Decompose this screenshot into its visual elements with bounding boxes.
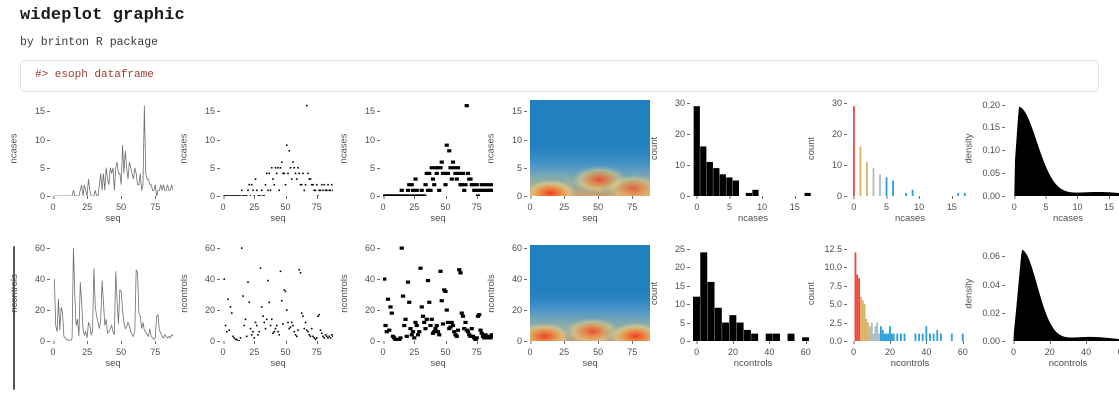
- y-tick-label: 0.04: [982, 280, 1000, 290]
- y-tick-label: 15: [205, 106, 215, 116]
- x-tick-label: 10: [1072, 202, 1082, 212]
- x-axis-label: seq: [53, 358, 173, 372]
- y-tick-label: 0: [40, 336, 45, 346]
- x-axis-label: ncases: [1008, 213, 1119, 227]
- plot-area: [530, 100, 650, 196]
- y-tick-label: 20: [675, 262, 685, 272]
- y-axis-label: ncases: [178, 100, 191, 196]
- y-tick-label: 20: [365, 305, 375, 315]
- x-axis-ticks: 0255075: [530, 196, 650, 212]
- y-tick-label: 15: [675, 281, 685, 291]
- x-axis-label: ncontrols: [850, 358, 970, 372]
- x-tick-label: 0: [851, 202, 856, 212]
- y-axis-label: count: [805, 245, 818, 341]
- y-tick-label: 0: [370, 336, 375, 346]
- x-tick-label: 20: [885, 347, 895, 357]
- x-axis-label: seq: [383, 213, 493, 227]
- y-axis-ticks: 0204060: [21, 245, 51, 341]
- y-axis-label: density: [963, 100, 976, 196]
- x-tick-label: 50: [440, 202, 450, 212]
- x-axis-ticks: 051015: [850, 196, 970, 212]
- y-axis-ticks: 0510152025: [661, 245, 691, 341]
- y-tick-label: 5: [370, 163, 375, 173]
- x-tick-label: 75: [472, 347, 482, 357]
- x-axis-label: seq: [53, 213, 173, 227]
- plot-area: [383, 100, 493, 196]
- x-tick-label: 10: [757, 202, 767, 212]
- y-tick-label: 0: [837, 191, 842, 201]
- y-tick-label: 0.10: [982, 145, 1000, 155]
- y-axis-label: ncases: [485, 100, 498, 196]
- x-tick-label: 25: [82, 347, 92, 357]
- plot-area: [223, 245, 333, 341]
- x-tick-label: 20: [1045, 347, 1055, 357]
- x-tick-label: 25: [249, 347, 259, 357]
- x-tick-label: 0: [527, 347, 532, 357]
- x-tick-label: 25: [559, 202, 569, 212]
- plot-area: [850, 245, 970, 341]
- y-axis-ticks: 0204060: [498, 245, 528, 341]
- x-tick-label: 75: [312, 347, 322, 357]
- y-tick-label: 0.15: [982, 122, 1000, 132]
- x-tick-label: 0: [1011, 347, 1016, 357]
- y-tick-label: 60: [365, 243, 375, 253]
- x-axis-label: seq: [223, 358, 333, 372]
- plot-panel-row2-density: density0.000.020.040.060204060ncontrols: [963, 245, 1119, 380]
- wideplot-page: wideplot graphic by brinton R package #>…: [0, 0, 1119, 404]
- y-axis-ticks: 0102030: [818, 100, 848, 196]
- y-axis-ticks: 051015: [498, 100, 528, 196]
- y-tick-label: 10: [675, 299, 685, 309]
- plot-area: [693, 100, 813, 196]
- x-tick-label: 75: [150, 347, 160, 357]
- x-axis-ticks: 0204060: [693, 341, 813, 357]
- y-tick-label: 0: [680, 191, 685, 201]
- x-tick-label: 25: [82, 202, 92, 212]
- x-axis-label: ncases: [693, 213, 813, 227]
- plot-area: [1008, 100, 1119, 196]
- plot-area: [383, 245, 493, 341]
- x-tick-label: 40: [921, 347, 931, 357]
- y-tick-label: 40: [365, 274, 375, 284]
- plot-panel-row1-density: density0.000.050.100.150.20051015ncases: [963, 100, 1119, 235]
- code-output-text: #> esoph dataframe: [35, 69, 154, 81]
- y-tick-label: 2.5: [829, 318, 842, 328]
- y-tick-label: 20: [675, 129, 685, 139]
- y-axis-ticks: 0.02.55.07.510.012.5: [818, 245, 848, 341]
- y-axis-label: density: [963, 245, 976, 341]
- x-axis-ticks: 0204060: [850, 341, 970, 357]
- x-tick-label: 10: [914, 202, 924, 212]
- y-axis-label: ncases: [338, 100, 351, 196]
- y-axis-ticks: 051015: [191, 100, 221, 196]
- x-tick-label: 40: [764, 347, 774, 357]
- y-tick-label: 0: [40, 191, 45, 201]
- x-tick-label: 50: [593, 202, 603, 212]
- x-axis-ticks: 0255075: [223, 196, 333, 212]
- x-tick-label: 50: [280, 202, 290, 212]
- y-tick-label: 0: [517, 191, 522, 201]
- x-axis-ticks: 0204060: [1008, 341, 1119, 357]
- y-tick-label: 20: [832, 129, 842, 139]
- x-tick-label: 0: [380, 347, 385, 357]
- x-tick-label: 5: [727, 202, 732, 212]
- plot-area: [53, 100, 173, 196]
- y-axis-label: ncontrols: [178, 245, 191, 341]
- plot-panel-row1-spikes: count0102030051015ncases: [805, 100, 970, 235]
- y-tick-label: 20: [512, 305, 522, 315]
- plot-area: [693, 245, 813, 341]
- x-axis-ticks: 0255075: [53, 341, 173, 357]
- code-output-box: #> esoph dataframe: [20, 60, 1099, 92]
- y-tick-label: 60: [512, 243, 522, 253]
- plot-row-ncontrols: ncontrols02040600255075seqncontrols02040…: [0, 245, 1119, 380]
- y-tick-label: 7.5: [829, 281, 842, 291]
- y-axis-label: ncontrols: [485, 245, 498, 341]
- y-tick-label: 0.20: [982, 100, 1000, 110]
- plot-area: [530, 245, 650, 341]
- x-tick-label: 5: [884, 202, 889, 212]
- y-tick-label: 10: [365, 135, 375, 145]
- y-axis-label: count: [805, 100, 818, 196]
- y-tick-label: 0.00: [982, 336, 1000, 346]
- x-tick-label: 25: [409, 202, 419, 212]
- x-axis-label: seq: [530, 213, 650, 227]
- y-tick-label: 5: [210, 163, 215, 173]
- x-tick-label: 50: [116, 347, 126, 357]
- page-title: wideplot graphic: [20, 6, 185, 25]
- y-axis-label: count: [648, 100, 661, 196]
- x-tick-label: 0: [220, 202, 225, 212]
- y-tick-label: 0: [370, 191, 375, 201]
- plot-panel-row1-histogram: count0102030051015ncases: [648, 100, 813, 235]
- y-tick-label: 0.0: [829, 336, 842, 346]
- y-axis-ticks: 0204060: [351, 245, 381, 341]
- y-tick-label: 60: [205, 243, 215, 253]
- y-tick-label: 10: [832, 160, 842, 170]
- plot-area: [850, 100, 970, 196]
- plot-panel-row1-line: ncases0510150255075seq: [8, 100, 173, 235]
- plot-panel-row2-heatmap: ncontrols02040600255075seq: [485, 245, 650, 380]
- y-tick-label: 30: [675, 98, 685, 108]
- y-axis-label: ncontrols: [338, 245, 351, 341]
- y-axis-ticks: 0102030: [661, 100, 691, 196]
- y-tick-label: 40: [205, 274, 215, 284]
- x-axis-ticks: 0255075: [383, 341, 493, 357]
- x-axis-label: seq: [530, 358, 650, 372]
- x-tick-label: 50: [440, 347, 450, 357]
- x-tick-label: 0: [694, 347, 699, 357]
- x-tick-label: 0: [50, 202, 55, 212]
- x-axis-label: ncases: [850, 213, 970, 227]
- y-tick-label: 0: [210, 336, 215, 346]
- y-tick-label: 10: [675, 160, 685, 170]
- x-axis-ticks: 0255075: [223, 341, 333, 357]
- x-tick-label: 15: [947, 202, 957, 212]
- x-tick-label: 75: [627, 347, 637, 357]
- y-tick-label: 0.05: [982, 168, 1000, 178]
- y-tick-label: 0.00: [982, 191, 1000, 201]
- y-tick-label: 15: [365, 106, 375, 116]
- y-axis-ticks: 051015: [21, 100, 51, 196]
- y-tick-label: 40: [35, 274, 45, 284]
- x-tick-label: 50: [593, 347, 603, 357]
- x-tick-label: 75: [312, 202, 322, 212]
- y-tick-label: 15: [512, 106, 522, 116]
- y-tick-label: 0: [680, 336, 685, 346]
- y-tick-label: 25: [675, 244, 685, 254]
- y-tick-label: 10: [35, 135, 45, 145]
- x-tick-label: 25: [249, 202, 259, 212]
- x-tick-label: 5: [1043, 202, 1048, 212]
- y-tick-label: 0: [517, 336, 522, 346]
- y-tick-label: 20: [35, 305, 45, 315]
- plot-panel-row2-scatter-small: ncontrols02040600255075seq: [178, 245, 333, 380]
- page-subtitle: by brinton R package: [20, 36, 158, 49]
- plot-area: [1008, 245, 1119, 341]
- x-axis-ticks: 0255075: [53, 196, 173, 212]
- y-tick-label: 12.5: [824, 244, 842, 254]
- y-tick-label: 60: [35, 243, 45, 253]
- x-tick-label: 40: [1081, 347, 1091, 357]
- y-tick-label: 0.02: [982, 308, 1000, 318]
- x-tick-label: 20: [728, 347, 738, 357]
- y-tick-label: 5.0: [829, 299, 842, 309]
- plot-panel-row1-scatter-large: ncases0510150255075seq: [338, 100, 493, 235]
- y-tick-label: 0: [210, 191, 215, 201]
- x-tick-label: 50: [116, 202, 126, 212]
- x-tick-label: 0: [527, 202, 532, 212]
- plot-area: [223, 100, 333, 196]
- x-tick-label: 25: [409, 347, 419, 357]
- x-tick-label: 0: [380, 202, 385, 212]
- y-axis-label: count: [648, 245, 661, 341]
- y-tick-label: 5: [680, 318, 685, 328]
- plot-panel-row1-scatter-small: ncases0510150255075seq: [178, 100, 333, 235]
- y-axis-ticks: 0.000.050.100.150.20: [976, 100, 1006, 196]
- x-axis-label: seq: [383, 358, 493, 372]
- plot-area: [53, 245, 173, 341]
- y-tick-label: 0.06: [982, 251, 1000, 261]
- y-tick-label: 10: [205, 135, 215, 145]
- x-tick-label: 0: [50, 347, 55, 357]
- x-axis-label: ncontrols: [1008, 358, 1119, 372]
- x-tick-label: 0: [220, 347, 225, 357]
- x-axis-label: ncontrols: [693, 358, 813, 372]
- x-tick-label: 15: [1104, 202, 1114, 212]
- y-tick-label: 40: [512, 274, 522, 284]
- y-tick-label: 10: [512, 135, 522, 145]
- y-tick-label: 10.0: [824, 262, 842, 272]
- x-axis-ticks: 0255075: [383, 196, 493, 212]
- x-tick-label: 25: [559, 347, 569, 357]
- x-axis-ticks: 0255075: [530, 341, 650, 357]
- x-tick-label: 15: [790, 202, 800, 212]
- y-axis-label: ncases: [8, 100, 21, 196]
- x-axis-ticks: 051015: [693, 196, 813, 212]
- y-axis-ticks: 0204060: [191, 245, 221, 341]
- plot-panel-row2-histogram: count05101520250204060ncontrols: [648, 245, 813, 380]
- y-tick-label: 30: [832, 98, 842, 108]
- y-tick-label: 15: [35, 106, 45, 116]
- x-tick-label: 0: [694, 202, 699, 212]
- x-tick-label: 0: [851, 347, 856, 357]
- plot-panel-row2-line: ncontrols02040600255075seq: [8, 245, 173, 380]
- plot-panel-row2-scatter-large: ncontrols02040600255075seq: [338, 245, 493, 380]
- x-tick-label: 50: [280, 347, 290, 357]
- x-tick-label: 75: [472, 202, 482, 212]
- x-tick-label: 75: [150, 202, 160, 212]
- y-axis-ticks: 0.000.020.040.06: [976, 245, 1006, 341]
- plot-row-ncases: ncases0510150255075seqncases051015025507…: [0, 100, 1119, 235]
- x-tick-label: 75: [627, 202, 637, 212]
- plot-panel-row1-heatmap: ncases0510150255075seq: [485, 100, 650, 235]
- y-axis-label: ncontrols: [8, 245, 21, 341]
- y-tick-label: 5: [517, 163, 522, 173]
- y-tick-label: 5: [40, 163, 45, 173]
- y-tick-label: 20: [205, 305, 215, 315]
- plot-panel-row2-spikes: count0.02.55.07.510.012.50204060ncontrol…: [805, 245, 970, 380]
- x-axis-ticks: 051015: [1008, 196, 1119, 212]
- x-tick-label: 0: [1012, 202, 1017, 212]
- x-axis-label: seq: [223, 213, 333, 227]
- y-axis-ticks: 051015: [351, 100, 381, 196]
